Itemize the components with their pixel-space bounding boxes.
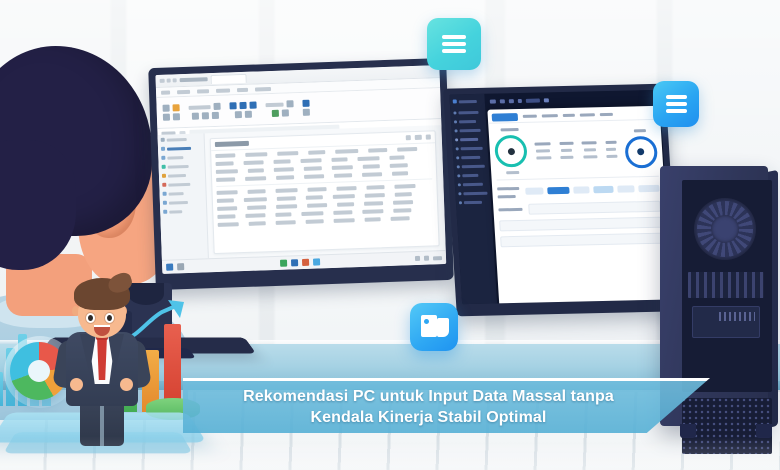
nav-item[interactable] [456, 147, 485, 151]
result-field[interactable] [499, 217, 662, 232]
sidebar-item[interactable] [163, 208, 203, 213]
filter-labels [497, 185, 520, 198]
filter-chip[interactable] [573, 186, 589, 193]
filter-chip[interactable] [593, 186, 613, 193]
ribbon-tab-help[interactable] [255, 86, 271, 91]
tab-item[interactable] [563, 114, 575, 117]
search-input[interactable] [528, 201, 661, 215]
filter-icon[interactable] [415, 135, 422, 140]
cooling-fan [694, 198, 756, 260]
sidebar-item[interactable] [161, 136, 201, 141]
fan-blades [697, 201, 753, 257]
number-format-box[interactable] [265, 102, 283, 107]
forward-icon[interactable] [509, 99, 514, 103]
profile-icon[interactable] [544, 98, 549, 102]
taskbar-apps[interactable] [279, 258, 319, 266]
data-rows[interactable] [211, 143, 438, 230]
nav-item[interactable] [454, 129, 483, 133]
result-field[interactable] [500, 233, 663, 248]
font-name-box[interactable] [189, 105, 211, 110]
icon-line [442, 49, 466, 53]
format-painter-icon[interactable] [172, 104, 179, 111]
mascot-hand-left [70, 378, 83, 391]
mascot-mouth [94, 325, 110, 336]
tower-interior [682, 180, 772, 392]
window-title [180, 77, 208, 82]
sheet-tab[interactable] [210, 73, 246, 83]
decimal-icon[interactable] [281, 109, 288, 116]
dashboard-card [487, 106, 672, 304]
bar [0, 372, 3, 406]
cut-icon[interactable] [163, 114, 170, 121]
volume-icon[interactable] [424, 256, 429, 261]
redo-icon[interactable] [173, 78, 177, 82]
filter-chip[interactable] [617, 185, 634, 192]
ribbon-tab-data[interactable] [216, 88, 230, 92]
merge-cells-icon[interactable] [245, 111, 252, 118]
stat-column [582, 141, 598, 158]
copy-icon[interactable] [173, 113, 180, 120]
spreadsheet-sidebar[interactable] [158, 133, 209, 260]
ribbon-tab-home[interactable] [177, 89, 190, 93]
gauge-label [634, 129, 646, 132]
sidebar-item[interactable] [161, 154, 201, 159]
gauge-center [507, 148, 514, 155]
right-monitor[interactable] [443, 84, 679, 317]
mascot-eye-left [85, 312, 96, 324]
sheets-app-icon[interactable] [279, 260, 286, 267]
nav-item[interactable] [455, 138, 484, 142]
filter-chips[interactable] [525, 182, 660, 195]
file-icon-page [421, 315, 437, 337]
document-lines-icon [653, 81, 699, 127]
filter-chip-active[interactable] [547, 187, 569, 194]
dashboard-main [484, 90, 672, 304]
sidebar-item[interactable] [162, 181, 202, 186]
mail-app-icon[interactable] [301, 259, 308, 266]
icon-line [442, 35, 466, 39]
gauge-group-blue [624, 128, 658, 168]
address-bar[interactable] [526, 98, 540, 102]
screenshot-root: Rekomendasi PC untuk Input Data Massal t… [0, 0, 780, 470]
menu-icon[interactable] [490, 99, 496, 103]
left-monitor-screen[interactable] [155, 65, 446, 274]
align-center-icon[interactable] [239, 102, 246, 109]
wifi-icon[interactable] [415, 256, 420, 261]
nav-item[interactable] [456, 156, 485, 160]
tower-foot [756, 424, 772, 438]
sidebar-item[interactable] [162, 163, 202, 168]
currency-icon[interactable] [271, 110, 278, 117]
ribbon-tab-view[interactable] [237, 87, 248, 91]
sidebar-item[interactable] [163, 190, 203, 195]
dashboard-topbar[interactable] [487, 93, 660, 106]
more-icon[interactable] [426, 134, 431, 139]
gauge-blue [624, 135, 658, 168]
save-icon[interactable] [160, 79, 165, 83]
tab-item[interactable] [523, 115, 537, 118]
bold-icon[interactable] [191, 113, 198, 120]
tab-item[interactable] [542, 114, 558, 117]
gauge-value [506, 171, 519, 174]
icon-line [442, 42, 466, 46]
paste-icon[interactable] [163, 105, 170, 112]
spreadsheet-body [158, 125, 446, 260]
nav-item[interactable] [453, 111, 482, 115]
ribbon-group-alignment[interactable] [229, 102, 257, 119]
icon-line [666, 95, 687, 99]
sort-filter-icon[interactable] [303, 109, 310, 116]
search-row[interactable] [498, 201, 661, 216]
tower-foot [680, 424, 696, 438]
stat-column [559, 141, 574, 158]
tab-item[interactable] [600, 113, 613, 116]
tab-overview-active[interactable] [492, 113, 519, 122]
percent-icon[interactable] [286, 100, 293, 107]
ribbon-group-clipboard[interactable] [163, 104, 181, 121]
italic-icon[interactable] [201, 112, 208, 119]
file-transfer-icon [410, 303, 458, 351]
ribbon-group-editing[interactable] [302, 100, 310, 116]
chip-row[interactable] [525, 185, 659, 195]
mascot-leg-gap [100, 404, 104, 446]
dashboard-logo [453, 99, 482, 104]
dashboard-panel [488, 120, 668, 253]
sidebar-item[interactable] [163, 199, 203, 204]
search-icon[interactable] [177, 263, 184, 270]
icon-line [666, 109, 687, 113]
stat-column [535, 142, 552, 159]
spreadsheet-grid[interactable] [210, 130, 440, 254]
sidebar-item-active[interactable] [161, 145, 201, 150]
caption-text: Rekomendasi PC untuk Input Data Massal t… [243, 386, 650, 428]
mascot-illustration [0, 276, 206, 470]
ribbon-group-number[interactable] [265, 100, 294, 117]
gauge-teal [494, 135, 528, 168]
start-icon[interactable] [166, 264, 173, 271]
right-monitor-screen[interactable] [449, 90, 672, 304]
nav-item[interactable] [459, 201, 488, 205]
ram-modules [688, 272, 764, 298]
ribbon-tab-insert[interactable] [197, 89, 209, 93]
browser-app-icon[interactable] [290, 259, 297, 266]
nav-item[interactable] [458, 183, 487, 187]
taskbar-left-icons[interactable] [166, 263, 184, 271]
stats-row [494, 125, 659, 175]
filters-row[interactable] [497, 182, 660, 199]
mascot-hand-right [120, 378, 133, 391]
gauge-group-teal [494, 128, 529, 175]
undo-icon[interactable] [167, 78, 171, 82]
autosum-icon[interactable] [302, 100, 309, 107]
quick-access-toolbar[interactable] [160, 78, 177, 83]
mascot-eye-right [104, 312, 115, 324]
nav-item[interactable] [454, 120, 483, 124]
sheet-name [215, 141, 249, 147]
businessman-mascot [56, 278, 148, 446]
document-lines-icon [427, 18, 481, 70]
file-icon-arrow [437, 318, 449, 337]
person-hair-back [0, 140, 76, 270]
align-left-icon[interactable] [229, 102, 236, 109]
filter-chip[interactable] [525, 187, 543, 194]
icon-line [666, 102, 687, 106]
chat-app-icon[interactable] [312, 258, 319, 265]
motherboard-component [692, 306, 760, 338]
panel-divider [497, 176, 659, 181]
wrap-text-icon[interactable] [235, 111, 242, 118]
sidebar-item[interactable] [162, 172, 202, 177]
refresh-icon[interactable] [518, 98, 522, 102]
tab-item[interactable] [580, 113, 595, 116]
clock[interactable] [433, 256, 442, 260]
ribbon-tab-file[interactable] [161, 90, 170, 94]
underline-icon[interactable] [211, 112, 218, 119]
search-label [498, 208, 522, 212]
align-right-icon[interactable] [249, 102, 256, 109]
sort-icon[interactable] [406, 135, 411, 140]
gauge-label [501, 128, 519, 131]
back-icon[interactable] [500, 99, 505, 103]
left-monitor[interactable] [148, 58, 454, 290]
font-size-box[interactable] [213, 103, 220, 110]
nav-item[interactable] [457, 165, 486, 169]
ribbon-group-font[interactable] [188, 103, 221, 120]
taskbar-tray[interactable] [415, 255, 442, 261]
stat-column [605, 140, 617, 157]
nav-item[interactable] [458, 192, 487, 196]
nav-item[interactable] [457, 174, 486, 178]
gauge-center [637, 148, 644, 155]
caption-banner: Rekomendasi PC untuk Input Data Massal t… [183, 378, 710, 433]
